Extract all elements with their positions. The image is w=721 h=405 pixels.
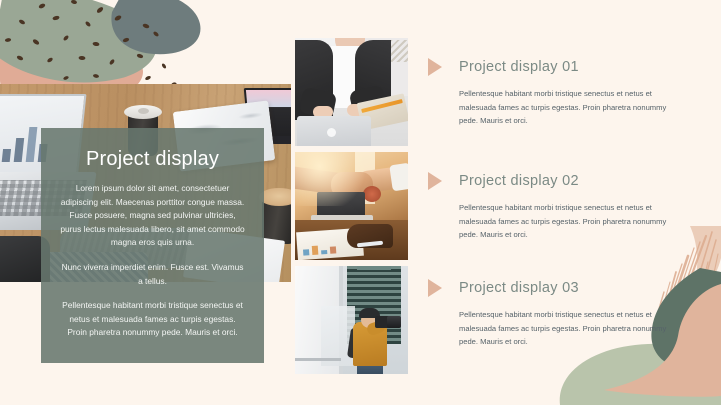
project-item-03-title: Project display 03 bbox=[459, 280, 579, 296]
project-item-01-header: Project display 01 bbox=[428, 56, 690, 78]
photo-handshake[interactable] bbox=[295, 152, 408, 260]
project-item-02-body: Pellentesque habitant morbi tristique se… bbox=[459, 201, 687, 242]
photo2-shirt-cuff bbox=[389, 163, 408, 192]
panel-title: Project display bbox=[55, 148, 250, 170]
bottom-right-tan-blob-2 bbox=[696, 300, 721, 396]
panel-paragraph-1: Lorem ipsum dolor sit amet, consectetuer… bbox=[55, 182, 250, 250]
project-item-03-body: Pellentesque habitant morbi tristique se… bbox=[459, 308, 687, 349]
panel-paragraph-2: Nunc viverra imperdiet enim. Fusce est. … bbox=[55, 261, 250, 288]
project-item-02-header: Project display 02 bbox=[428, 170, 690, 192]
project-item-03: Project display 03 Pellentesque habitant… bbox=[428, 277, 690, 349]
photo3-railing bbox=[295, 358, 341, 361]
desk-coffee-lid-tab bbox=[138, 108, 149, 114]
brush-stroke-blob bbox=[688, 226, 721, 302]
panel-paragraph-3: Pellentesque habitant morbi tristique se… bbox=[55, 299, 250, 340]
top-left-gray-blob bbox=[111, 0, 200, 54]
project-item-01-body: Pellentesque habitant morbi tristique se… bbox=[459, 87, 687, 128]
project-item-01-title: Project display 01 bbox=[459, 59, 579, 75]
photo3-camera-lens bbox=[387, 316, 401, 328]
triangle-marker-icon bbox=[428, 279, 442, 297]
project-item-02: Project display 02 Pellentesque habitant… bbox=[428, 170, 690, 242]
project-item-01: Project display 01 Pellentesque habitant… bbox=[428, 56, 690, 128]
top-left-sage-blob bbox=[0, 0, 157, 82]
project-display-panel: Project display Lorem ipsum dolor sit am… bbox=[41, 128, 264, 363]
photo-laptop-blazer[interactable] bbox=[295, 38, 408, 146]
photo1-laptop-logo bbox=[327, 128, 336, 137]
project-item-02-title: Project display 02 bbox=[459, 173, 579, 189]
photo3-skyscraper-top bbox=[357, 266, 391, 270]
triangle-marker-icon bbox=[428, 172, 442, 190]
bottom-right-sage-blob bbox=[560, 344, 721, 405]
photo2-sun-glow bbox=[295, 152, 371, 206]
photo-photographer[interactable] bbox=[295, 266, 408, 374]
presentation-slide: Project display Lorem ipsum dolor sit am… bbox=[0, 0, 721, 405]
project-item-03-header: Project display 03 bbox=[428, 277, 690, 299]
triangle-marker-icon bbox=[428, 58, 442, 76]
